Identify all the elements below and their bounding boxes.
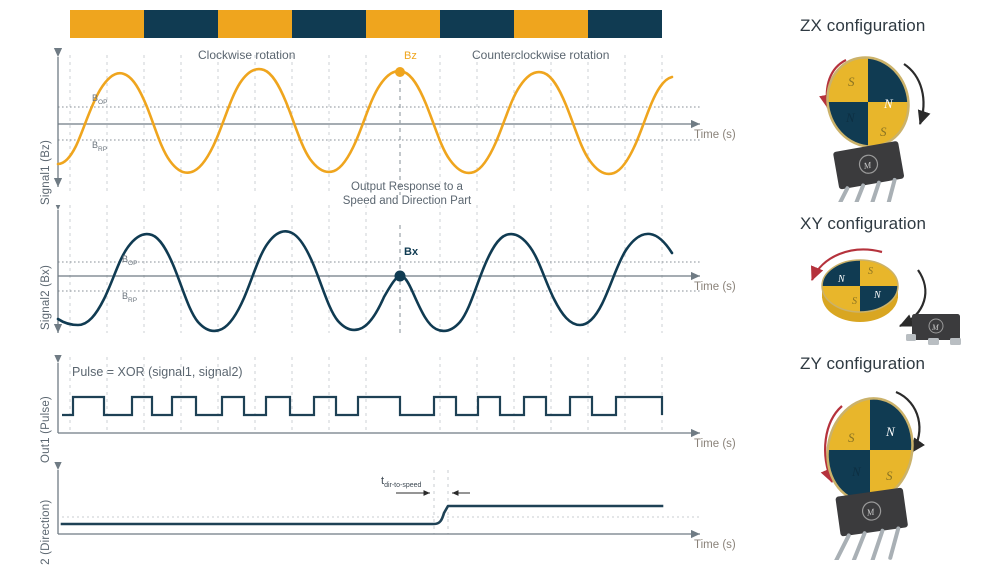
pole-segment-1 (144, 10, 218, 38)
svg-text:S: S (886, 468, 893, 483)
signal1-threshold-rp: BRP (92, 140, 107, 153)
out2-plot (0, 462, 760, 565)
config-zx-illustration: S N N S M (790, 42, 1000, 202)
config-zx: ZX configuration (790, 8, 1000, 198)
signal2-threshold-op: BOP (122, 254, 137, 267)
svg-text:N: N (873, 290, 882, 301)
svg-text:S: S (848, 430, 855, 445)
chart-out1: Out1 (Pulse) (0, 355, 760, 465)
chart-out2: Out2 (Direction) tdir-to-speed Time (s) (0, 462, 760, 565)
svg-text:S: S (868, 266, 873, 277)
pole-segment-3 (292, 10, 366, 38)
svg-text:N: N (845, 110, 856, 125)
signal2-time-label: Time (s) (694, 281, 736, 293)
magnet-pole-strip (70, 10, 662, 38)
svg-text:S: S (848, 74, 855, 89)
config-zx-title: ZX configuration (800, 16, 925, 36)
bx-point-label: Bx (404, 246, 418, 258)
svg-text:N: N (837, 274, 846, 285)
config-zy: ZY configuration N S N S M (790, 348, 1000, 563)
out2-timing-label: tdir-to-speed (381, 475, 421, 489)
bz-point-label: Bz (404, 50, 417, 62)
out2-time-label: Time (s) (694, 539, 736, 551)
out1-time-label: Time (s) (694, 438, 736, 450)
signal1-threshold-op: BOP (92, 93, 107, 106)
svg-text:S: S (880, 124, 887, 139)
signal1-time-label: Time (s) (694, 129, 736, 141)
pole-segment-4 (366, 10, 440, 38)
svg-text:N: N (883, 96, 894, 111)
pole-segment-5 (440, 10, 514, 38)
counterclockwise-rotation-label: Counterclockwise rotation (472, 48, 609, 62)
pole-segment-6 (514, 10, 588, 38)
chart-signal2: Signal2 (Bx) (0, 205, 760, 345)
svg-text:M: M (931, 323, 940, 332)
out1-formula: Pulse = XOR (signal1, signal2) (72, 365, 243, 379)
center-annotation: Output Response to a Speed and Direction… (332, 180, 482, 208)
svg-text:N: N (885, 424, 896, 439)
svg-text:S: S (852, 296, 857, 307)
clockwise-rotation-label: Clockwise rotation (198, 48, 295, 62)
config-xy-title: XY configuration (800, 214, 926, 234)
config-xy: XY configuration S N N S (790, 208, 1000, 348)
signal1-plot (0, 45, 760, 195)
config-xy-illustration: S N N S M (790, 238, 1000, 353)
chart-signal1: Signal1 (Bz) (0, 45, 760, 195)
signal2-plot (0, 205, 760, 345)
center-annotation-line1: Output Response to a (332, 180, 482, 194)
config-zy-illustration: N S N S M (790, 380, 1000, 560)
signal2-threshold-rp: BRP (122, 291, 137, 304)
svg-text:N: N (851, 464, 862, 479)
diagram-root: Signal1 (Bz) (0, 0, 1000, 565)
pole-segment-2 (218, 10, 292, 38)
pole-segment-7 (588, 10, 662, 38)
config-zy-title: ZY configuration (800, 354, 925, 374)
pole-segment-0 (70, 10, 144, 38)
